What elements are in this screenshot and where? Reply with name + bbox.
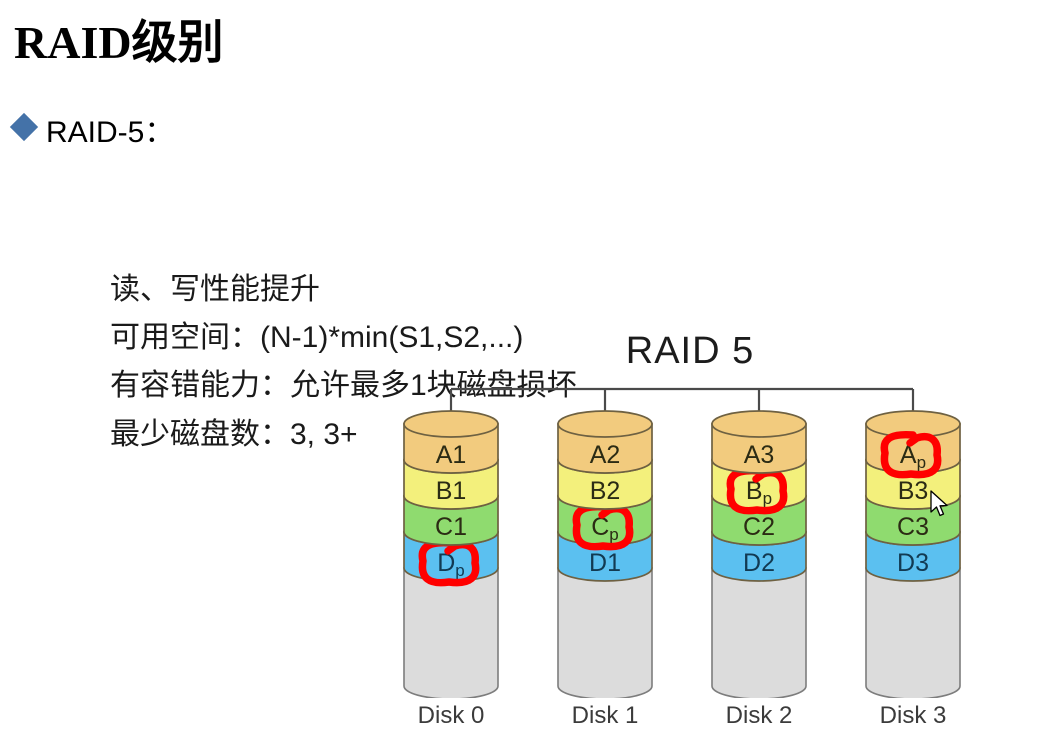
stripe-label: C3 — [897, 513, 929, 541]
disk-column-2[interactable]: D2C2BpA3 — [703, 408, 815, 698]
disk-label-0: Disk 0 — [395, 702, 507, 730]
disk-free-space — [866, 568, 960, 698]
disk-cylinder-0[interactable]: DpC1B1A1 — [395, 408, 507, 698]
stripe-block[interactable]: A3 — [712, 411, 806, 473]
disk-label-1: Disk 1 — [549, 702, 661, 730]
stripe-label: C1 — [435, 513, 467, 541]
stripe-label: D1 — [589, 549, 621, 577]
disk-free-space — [558, 568, 652, 698]
disk-label-3: Disk 3 — [857, 702, 969, 730]
bullet-list: RAID-5： 读、写性能提升 可用空间：(N-1)*min(S1,S2,...… — [0, 104, 720, 150]
disk-label-2: Disk 2 — [703, 702, 815, 730]
diagram-title: RAID 5 — [380, 330, 1000, 373]
stripe-label: B2 — [590, 477, 621, 505]
disk-cylinder-2[interactable]: D2C2BpA3 — [703, 408, 815, 698]
stripe-block[interactable]: A2 — [558, 411, 652, 473]
sub-line-min-disks: 最少磁盘数：3, 3+ — [110, 409, 358, 453]
disk-free-space — [404, 568, 498, 698]
disk-cylinder-3[interactable]: D3C3B3Ap — [857, 408, 969, 698]
stripe-label: A2 — [590, 441, 621, 469]
bullet-row-raid5: RAID-5： — [0, 104, 720, 150]
page-title: RAID级别 — [14, 6, 224, 72]
stripe-label: A3 — [744, 441, 775, 469]
stripe-label: A1 — [436, 441, 467, 469]
disk-free-space — [712, 568, 806, 698]
stripe-label: B1 — [436, 477, 467, 505]
bullet-label-raid5: RAID-5： — [46, 107, 174, 151]
disk-column-0[interactable]: DpC1B1A1 — [395, 408, 507, 698]
stripe-label: B3 — [898, 477, 929, 505]
disk-column-3[interactable]: D3C3B3Ap — [857, 408, 969, 698]
sub-line-performance: 读、写性能提升 — [110, 264, 320, 308]
stripe-label: D2 — [743, 549, 775, 577]
stripe-block[interactable]: A1 — [404, 411, 498, 473]
stripe-label: C2 — [743, 513, 775, 541]
disk-column-1[interactable]: D1CpB2A2 — [549, 408, 661, 698]
diamond-bullet-icon — [10, 113, 38, 141]
disk-cylinder-1[interactable]: D1CpB2A2 — [549, 408, 661, 698]
raid5-diagram: RAID 5 DpC1B1A1 D1CpB2A2 D2C2BpA3 D3C3B3… — [380, 330, 1000, 748]
stripe-label: D3 — [897, 549, 929, 577]
